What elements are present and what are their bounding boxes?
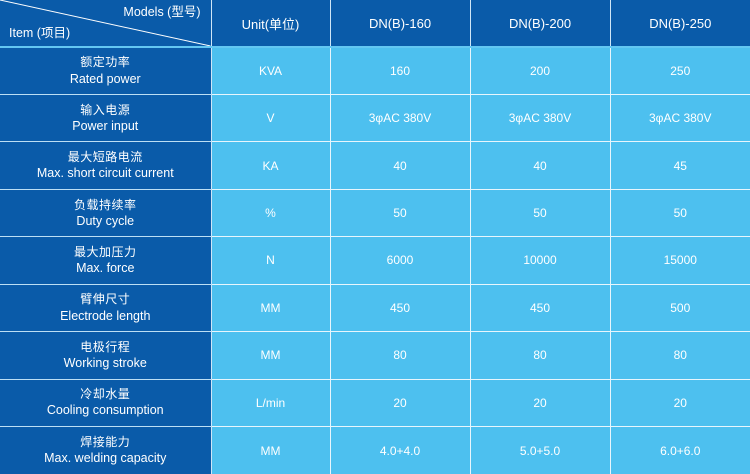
specification-table: Models (型号) Item (项目) Unit(单位) DN(B)-160…	[0, 0, 750, 474]
item-label-en: Electrode length	[0, 308, 211, 325]
item-label-en: Rated power	[0, 71, 211, 88]
row-value-model-1: 4.0+4.0	[330, 427, 470, 474]
row-unit: KA	[211, 142, 330, 189]
table-row: 电极行程 Working stroke MM 80 80 80	[0, 332, 750, 379]
row-unit: V	[211, 94, 330, 141]
row-value-model-3: 250	[610, 47, 750, 94]
item-label-en: Duty cycle	[0, 213, 211, 230]
row-value-model-2: 3φAC 380V	[470, 94, 610, 141]
row-unit: L/min	[211, 379, 330, 426]
header-unit-label: Unit(单位)	[211, 0, 330, 47]
row-value-model-1: 40	[330, 142, 470, 189]
item-label-en: Max. force	[0, 260, 211, 277]
item-label-en: Power input	[0, 118, 211, 135]
item-label-cn: 最大短路电流	[0, 149, 211, 165]
item-label-cn: 电极行程	[0, 339, 211, 355]
row-unit: MM	[211, 284, 330, 331]
table-row: 焊接能力 Max. welding capacity MM 4.0+4.0 5.…	[0, 427, 750, 474]
row-item-label: 电极行程 Working stroke	[0, 332, 211, 379]
item-label-cn: 负载持续率	[0, 197, 211, 213]
row-value-model-2: 40	[470, 142, 610, 189]
row-value-model-1: 20	[330, 379, 470, 426]
item-label-cn: 焊接能力	[0, 434, 211, 450]
row-value-model-1: 450	[330, 284, 470, 331]
row-value-model-1: 6000	[330, 237, 470, 284]
row-value-model-3: 45	[610, 142, 750, 189]
header-model-3: DN(B)-250	[610, 0, 750, 47]
row-unit: %	[211, 189, 330, 236]
header-model-1: DN(B)-160	[330, 0, 470, 47]
row-unit: N	[211, 237, 330, 284]
item-label-en: Working stroke	[0, 355, 211, 372]
header-item-label: Item (项目)	[9, 26, 70, 41]
row-unit: MM	[211, 427, 330, 474]
row-value-model-3: 15000	[610, 237, 750, 284]
row-value-model-3: 20	[610, 379, 750, 426]
item-label-cn: 冷却水量	[0, 386, 211, 402]
row-value-model-3: 80	[610, 332, 750, 379]
item-label-en: Max. welding capacity	[0, 450, 211, 467]
row-value-model-3: 50	[610, 189, 750, 236]
row-value-model-1: 3φAC 380V	[330, 94, 470, 141]
table-row: 负载持续率 Duty cycle % 50 50 50	[0, 189, 750, 236]
row-value-model-3: 6.0+6.0	[610, 427, 750, 474]
row-value-model-2: 200	[470, 47, 610, 94]
row-value-model-2: 20	[470, 379, 610, 426]
row-item-label: 最大短路电流 Max. short circuit current	[0, 142, 211, 189]
row-item-label: 负载持续率 Duty cycle	[0, 189, 211, 236]
table-row: 最大加压力 Max. force N 6000 10000 15000	[0, 237, 750, 284]
row-value-model-3: 500	[610, 284, 750, 331]
row-item-label: 冷却水量 Cooling consumption	[0, 379, 211, 426]
table-row: 冷却水量 Cooling consumption L/min 20 20 20	[0, 379, 750, 426]
table-row: 臂伸尺寸 Electrode length MM 450 450 500	[0, 284, 750, 331]
row-item-label: 最大加压力 Max. force	[0, 237, 211, 284]
row-value-model-2: 80	[470, 332, 610, 379]
row-value-model-2: 50	[470, 189, 610, 236]
header-model-2: DN(B)-200	[470, 0, 610, 47]
row-unit: KVA	[211, 47, 330, 94]
item-label-cn: 输入电源	[0, 102, 211, 118]
item-label-en: Max. short circuit current	[0, 165, 211, 182]
row-value-model-1: 80	[330, 332, 470, 379]
table-row: 最大短路电流 Max. short circuit current KA 40 …	[0, 142, 750, 189]
row-value-model-1: 50	[330, 189, 470, 236]
header-models-label: Models (型号)	[123, 5, 200, 20]
row-item-label: 额定功率 Rated power	[0, 47, 211, 94]
row-value-model-2: 450	[470, 284, 610, 331]
item-label-cn: 最大加压力	[0, 244, 211, 260]
item-label-cn: 臂伸尺寸	[0, 291, 211, 307]
item-label-cn: 额定功率	[0, 54, 211, 70]
row-value-model-3: 3φAC 380V	[610, 94, 750, 141]
row-item-label: 焊接能力 Max. welding capacity	[0, 427, 211, 474]
row-item-label: 输入电源 Power input	[0, 94, 211, 141]
table-row: 额定功率 Rated power KVA 160 200 250	[0, 47, 750, 94]
table-row: 输入电源 Power input V 3φAC 380V 3φAC 380V 3…	[0, 94, 750, 141]
item-label-en: Cooling consumption	[0, 402, 211, 419]
row-item-label: 臂伸尺寸 Electrode length	[0, 284, 211, 331]
table-header-row: Models (型号) Item (项目) Unit(单位) DN(B)-160…	[0, 0, 750, 47]
row-value-model-1: 160	[330, 47, 470, 94]
row-value-model-2: 5.0+5.0	[470, 427, 610, 474]
row-value-model-2: 10000	[470, 237, 610, 284]
row-unit: MM	[211, 332, 330, 379]
header-corner-cell: Models (型号) Item (项目)	[0, 0, 211, 47]
